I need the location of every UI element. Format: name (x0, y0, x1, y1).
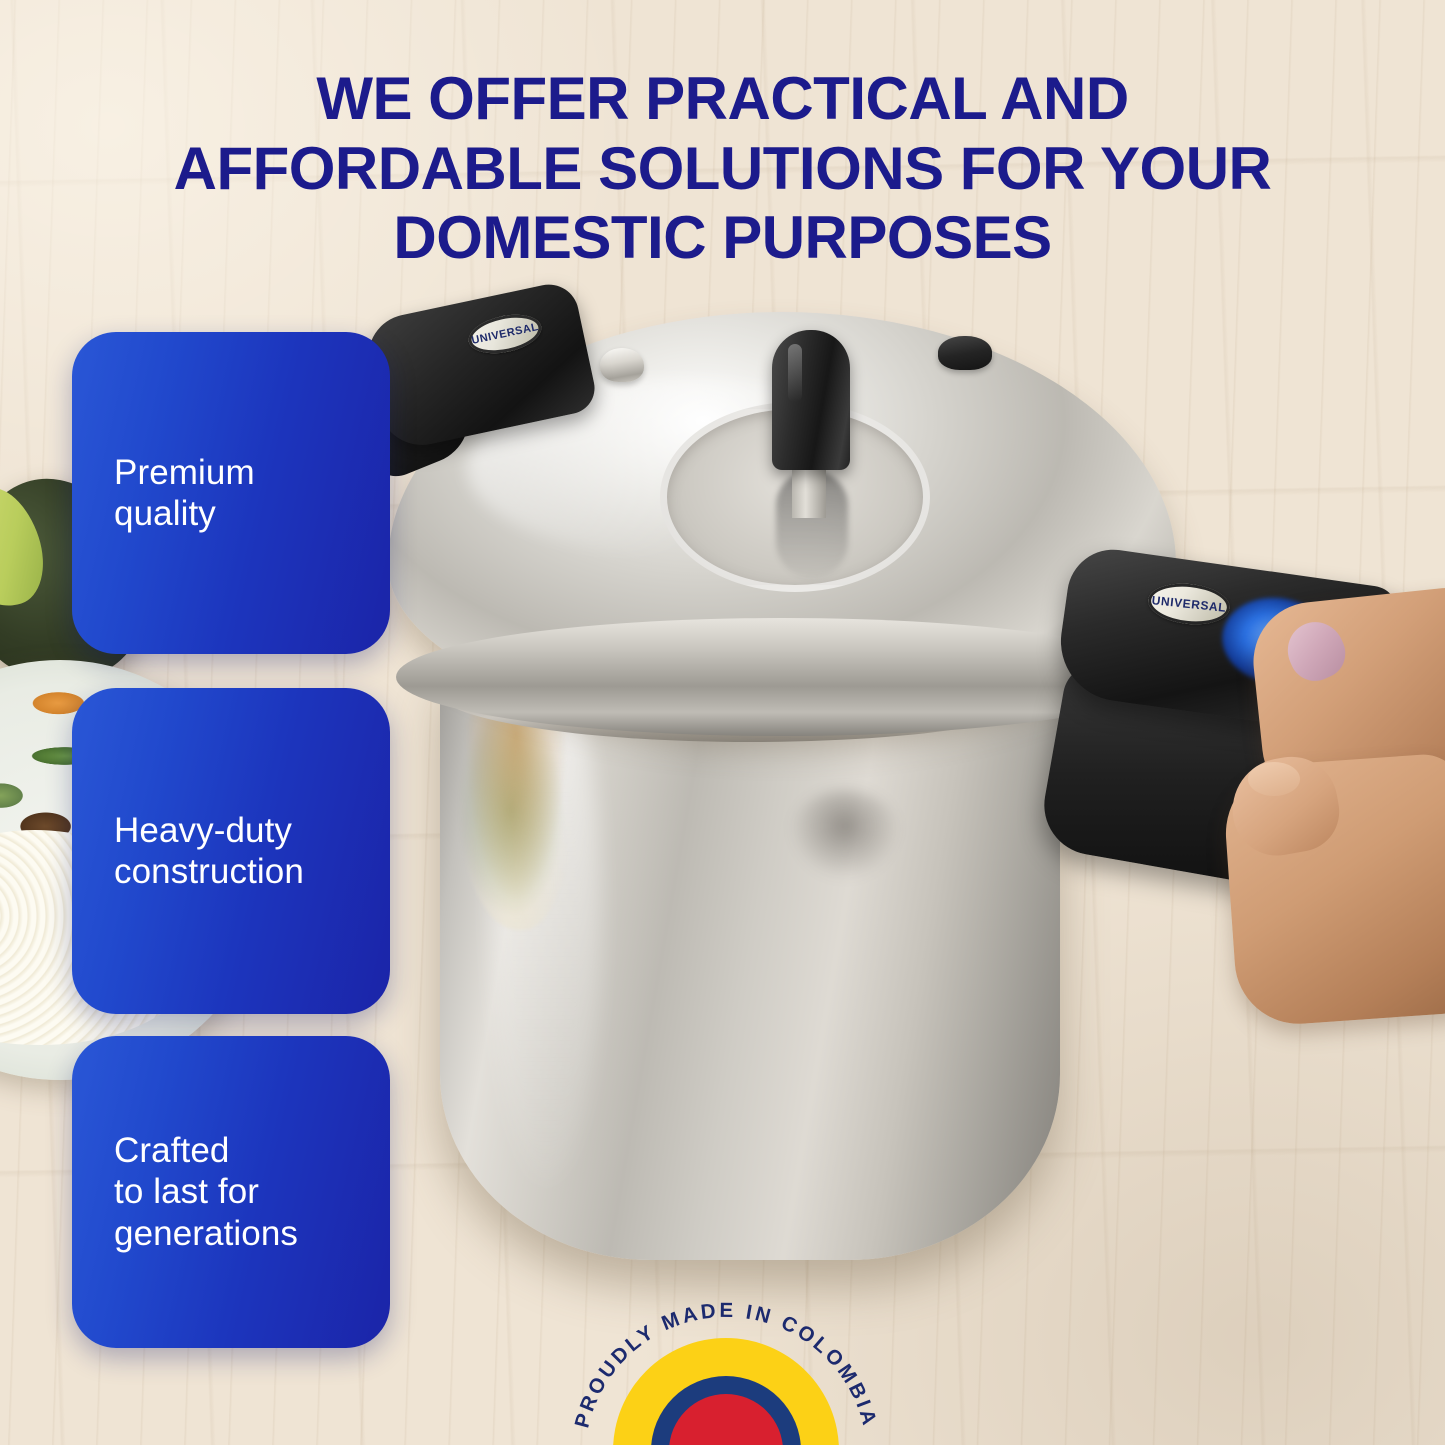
product-feature-banner: UNIVERSAL UNIVERSAL WE OFFER PRACTICAL A… (0, 0, 1445, 1445)
feature-card-label: Crafted to last for generations (114, 1130, 298, 1254)
feature-card-label: Premium quality (114, 452, 255, 535)
badge-arc-text: PROUDLY MADE IN COLOMBIA (570, 1299, 881, 1430)
feature-card-label: Heavy-duty construction (114, 810, 304, 893)
badge-arc-text-svg: PROUDLY MADE IN COLOMBIA (567, 1262, 885, 1445)
feature-card-premium-quality: Premium quality (72, 332, 390, 654)
feature-card-crafted-to-last: Crafted to last for generations (72, 1036, 390, 1348)
badge-arc-textpath: PROUDLY MADE IN COLOMBIA (570, 1299, 881, 1430)
feature-card-heavy-duty-construction: Heavy-duty construction (72, 688, 390, 1014)
made-in-colombia-badge: PROUDLY MADE IN COLOMBIA (567, 1262, 885, 1445)
page-title: WE OFFER PRACTICAL AND AFFORDABLE SOLUTI… (0, 64, 1445, 273)
